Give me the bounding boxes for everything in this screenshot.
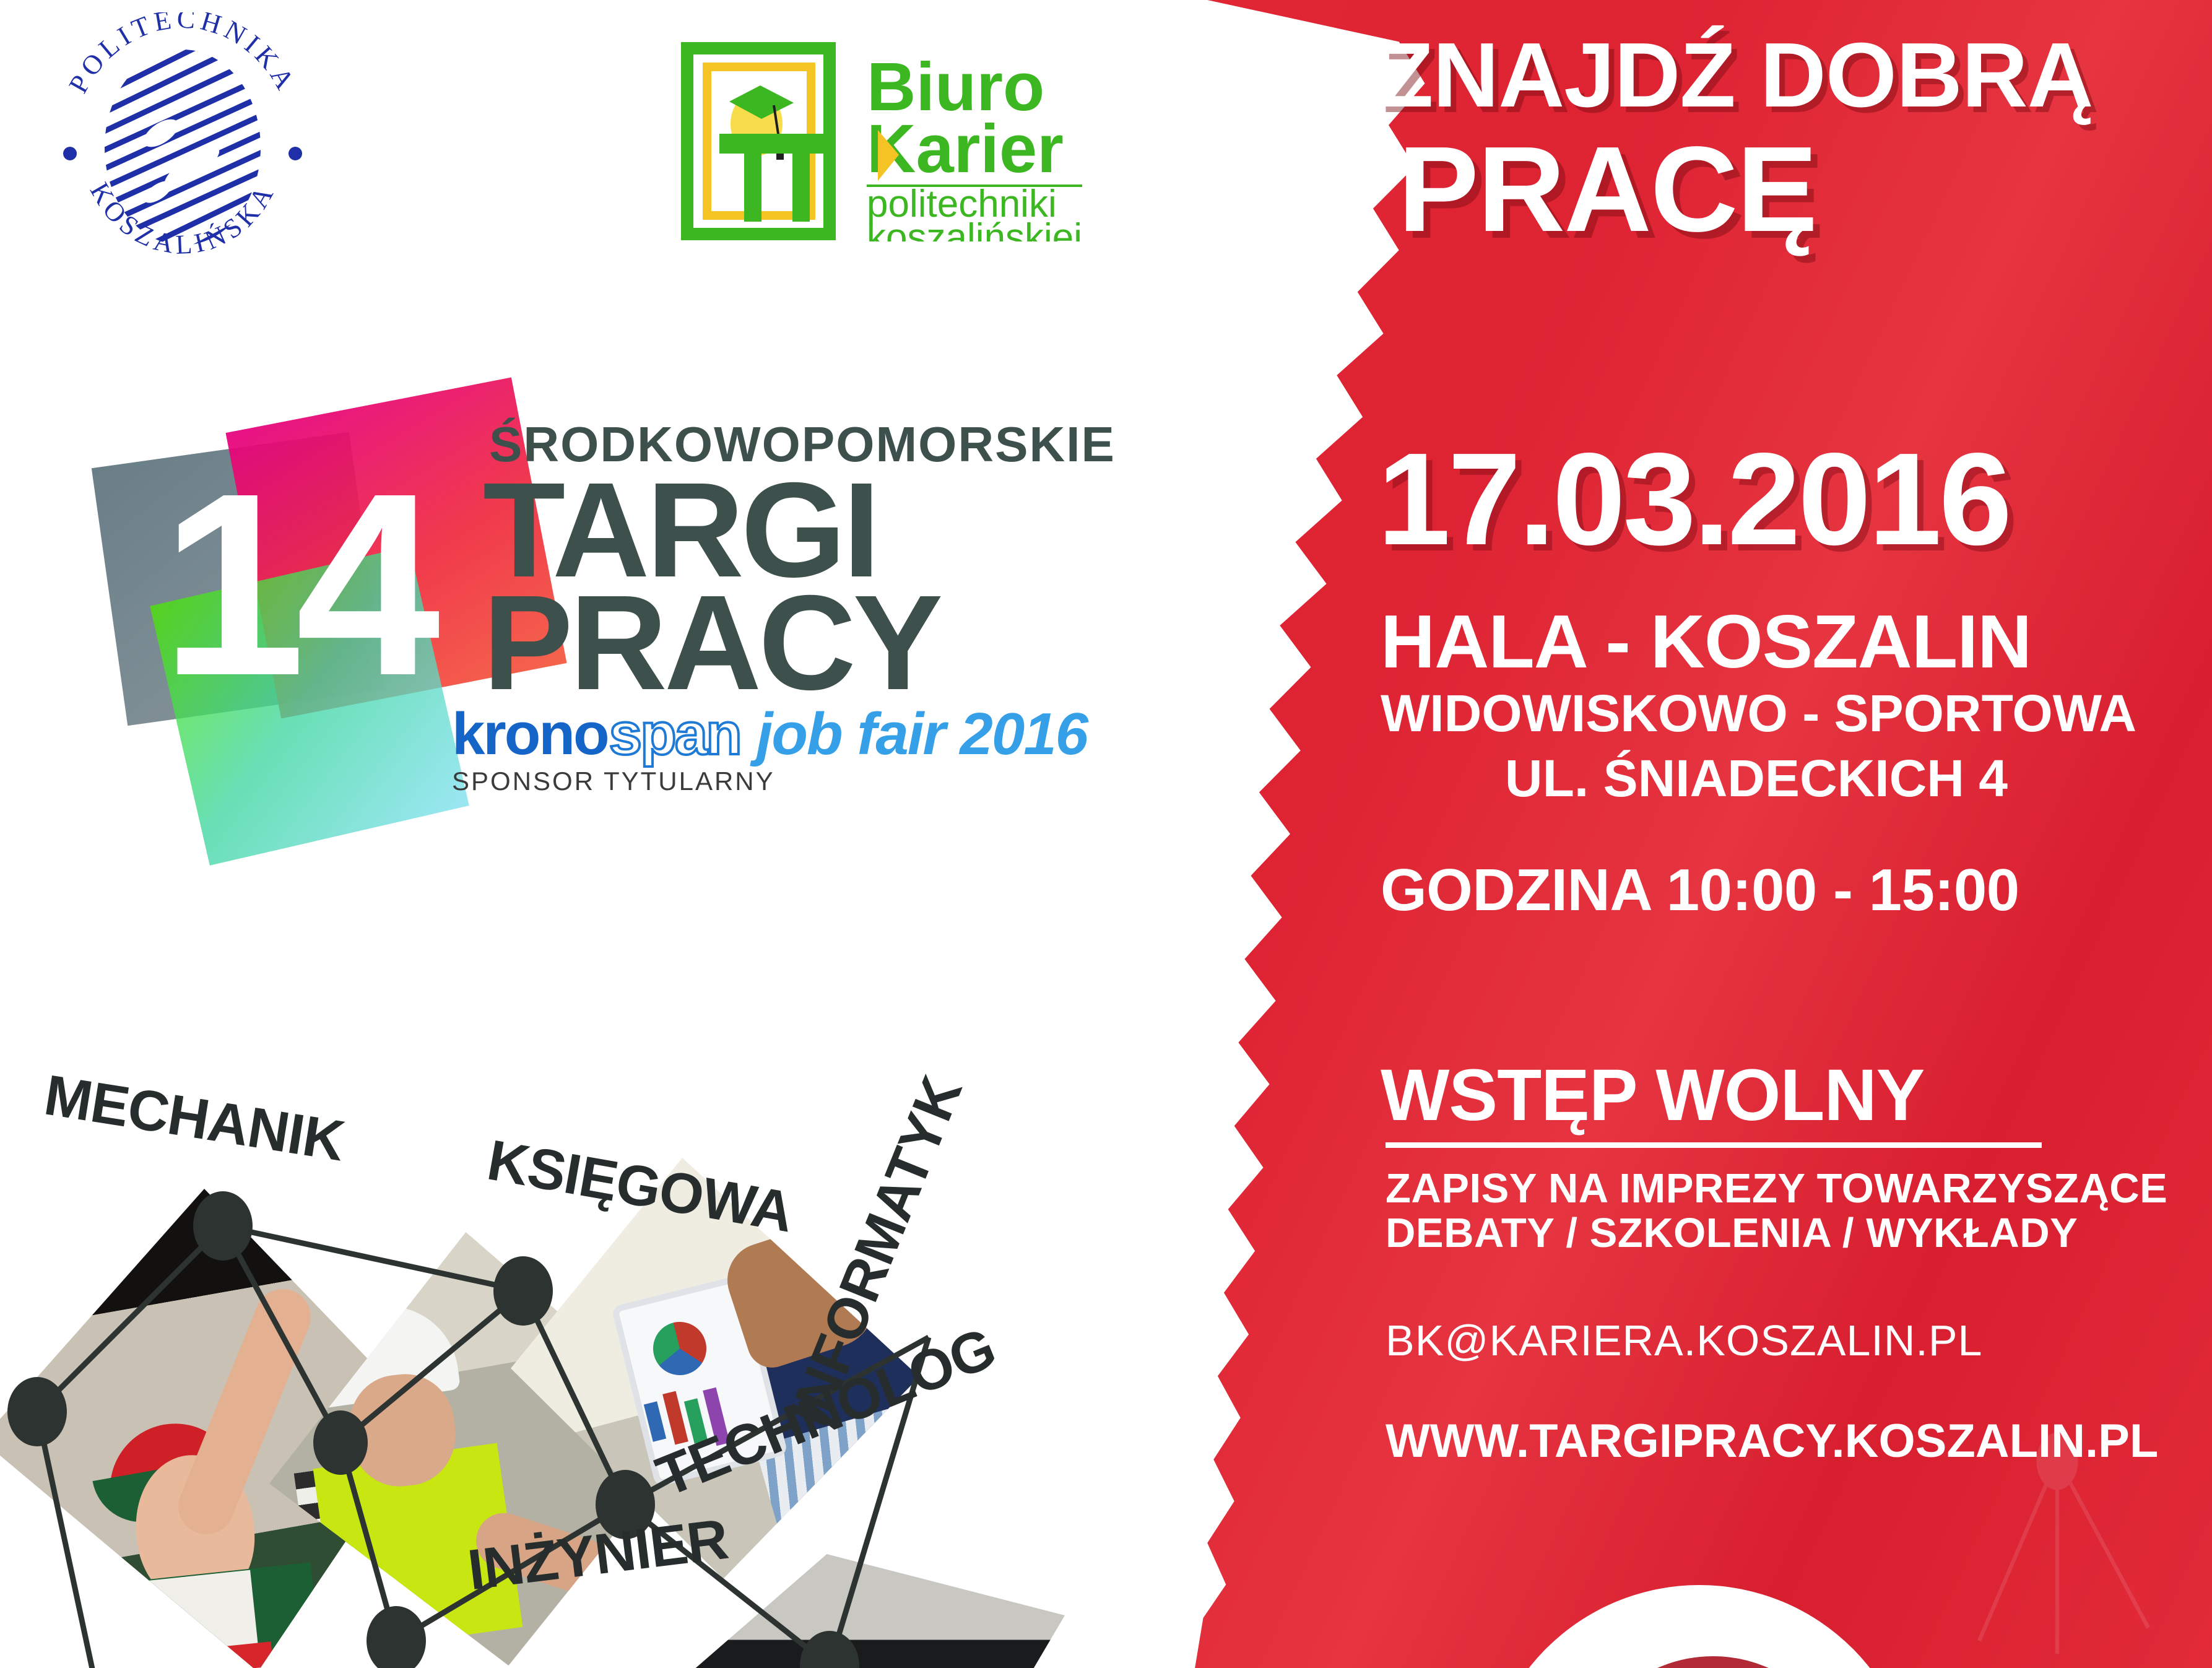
sponsor-lockup: krono span job fair 2016 bbox=[452, 707, 1087, 762]
jobs-network-diagram: MECHANIK KSIĘGOWA TECHNOLOG INFORMATYK I… bbox=[0, 1046, 1213, 1668]
venue-address: UL. ŚNIADECKICH 4 bbox=[1505, 752, 2008, 804]
headline-line-1: ZNAJDŹ DOBRĄ bbox=[1377, 30, 2093, 121]
headline-line-2: PRACĘ bbox=[1398, 129, 1816, 250]
signup-line-2: DEBATY / SZKOLENIA / WYKŁADY bbox=[1386, 1209, 2078, 1258]
sponsor-tagline: job fair 2016 bbox=[757, 707, 1087, 762]
poster-root: ZNAJDŹ DOBRĄ PRACĘ 17.03.2016 HALA - KOS… bbox=[0, 0, 2212, 1668]
sponsor-brand-krono: krono bbox=[452, 707, 608, 762]
biuro-karier-logo: Biuro Karier politechniki koszalińskiej bbox=[681, 37, 1090, 241]
signup-line-1: ZAPISY NA IMPREZY TOWARZYSZĄCE bbox=[1386, 1164, 2167, 1213]
contact-email[interactable]: BK@KARIERA.KOSZALIN.PL bbox=[1386, 1319, 1982, 1362]
edition-number: 14 bbox=[161, 455, 430, 715]
watermark-network-icon bbox=[1927, 1433, 2187, 1668]
event-date: 17.03.2016 bbox=[1377, 433, 2010, 565]
event-hours: GODZINA 10:00 - 15:00 bbox=[1381, 861, 2019, 920]
venue-name: HALA - KOSZALIN bbox=[1381, 604, 2031, 679]
event-logo-lockup: 14 ŚRODKOWOPOMORSKIE TARGI PRACY krono s… bbox=[93, 390, 1096, 799]
admission-badge: WSTĘP WOLNY bbox=[1381, 1059, 1924, 1132]
sponsor-role-label: SPONSOR TYTULARNY bbox=[452, 767, 775, 796]
sponsor-brand-span: span bbox=[609, 707, 740, 762]
bk-line-2: Karier bbox=[867, 111, 1064, 187]
lockup-title-line-2: PRACY bbox=[483, 576, 940, 711]
divider-rule bbox=[1386, 1142, 2042, 1148]
politechnika-koszalinska-logo: POLITECHNIKA KOSZALIŃSKA bbox=[37, 12, 328, 279]
bk-line-4: koszalińskiej bbox=[867, 216, 1082, 241]
venue-type: WIDOWISKOWO - SPORTOWA bbox=[1381, 687, 2136, 739]
